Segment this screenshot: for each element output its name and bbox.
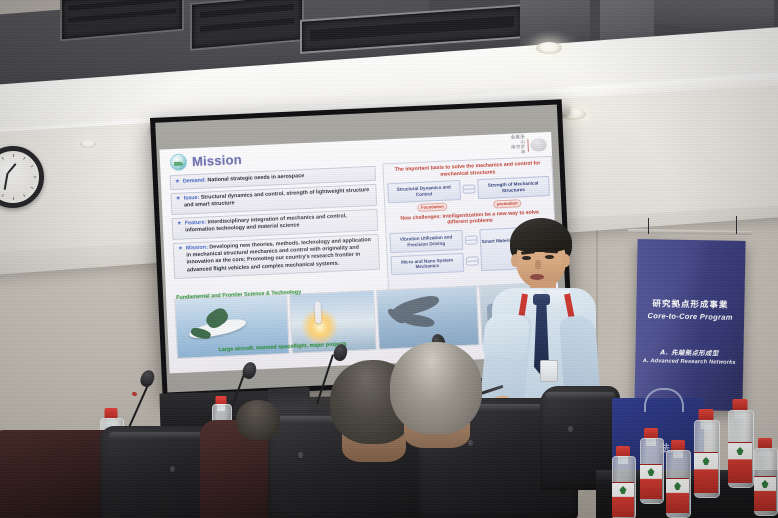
logo-bar <box>527 138 529 151</box>
university-logo: 金属涨山 南京学海 <box>506 135 547 155</box>
bullet-key: Demand: <box>183 177 206 184</box>
pill-promotion: promotion <box>493 199 522 208</box>
audience-head <box>236 400 280 440</box>
diagram-box: Strength of Mechanical Structures <box>477 176 550 199</box>
bullet-text: Structural dynamics and control, strengt… <box>184 187 369 209</box>
banner-line-jp: 研究拠点形成事業 <box>636 297 744 311</box>
water-bottle <box>640 438 662 502</box>
star-icon: ★ <box>178 246 184 275</box>
pill-foundation: Foundation <box>417 202 448 211</box>
bullet-key: Mission: <box>186 245 208 252</box>
ceiling-downlight <box>536 42 562 54</box>
link-icon <box>462 185 475 195</box>
bullet-text: Interdisciplinary integration of mechani… <box>185 213 347 234</box>
bullet-key: Feature: <box>185 220 207 227</box>
link-icon <box>464 235 477 245</box>
banner-line-jp2: A. 先端拠点形成型 <box>635 347 743 358</box>
slide-title: Mission <box>192 152 242 169</box>
presenter-eye <box>522 256 531 260</box>
presenter-fringe <box>511 228 571 252</box>
water-bottle <box>728 410 752 486</box>
ceiling-downlight <box>80 140 96 148</box>
presenter-eye <box>545 255 554 259</box>
banner-line-en2: A. Advanced Research Networks <box>635 358 743 366</box>
presenter-sleeve <box>482 312 530 360</box>
star-icon: ★ <box>175 178 180 185</box>
star-icon: ★ <box>176 196 182 211</box>
mission-logo-icon <box>170 153 188 171</box>
diagram-box: Vibration Utilization and Precision Driv… <box>389 230 462 253</box>
presenter-nose <box>535 260 541 269</box>
bullet-text: Developing new theories, methods, techno… <box>186 237 371 273</box>
water-bottle <box>666 450 689 516</box>
banner-string <box>736 216 737 234</box>
water-bottle <box>612 456 634 518</box>
water-bottle <box>754 448 776 514</box>
water-bottle <box>694 420 718 496</box>
presenter-ear <box>511 254 519 267</box>
link-icon <box>465 256 478 266</box>
audience-head <box>390 342 482 434</box>
photo-jet <box>376 285 480 350</box>
bullet-key: Issue: <box>184 195 200 202</box>
bullet-item: ★ Mission: Developing new theories, meth… <box>173 233 380 279</box>
logo-cn-line2: 南京学海 <box>507 145 526 156</box>
banner-string <box>648 218 649 234</box>
presenter-badge <box>540 360 558 382</box>
photo-scene: 金属涨山 南京学海 Mission ★ Demand: National str… <box>0 0 778 518</box>
logo-emblem <box>530 138 546 152</box>
diagram-box: Micro and Nano System Mechanics <box>390 253 463 276</box>
bullet-text: National strategic needs in aerospace <box>207 173 304 183</box>
banner-line-en: Core-to-Core Program <box>636 311 744 322</box>
bag-handle <box>644 388 684 412</box>
presenter-ear <box>562 254 570 267</box>
diagram-box: Structural Dynamics and Control <box>387 180 460 203</box>
event-banner: 研究拠点形成事業 Core-to-Core Program A. 先端拠点形成型… <box>634 239 745 411</box>
star-icon: ★ <box>177 221 183 236</box>
slide-header: Mission <box>170 151 242 171</box>
bullet-list: ★ Demand: National strategic needs in ae… <box>170 166 381 282</box>
